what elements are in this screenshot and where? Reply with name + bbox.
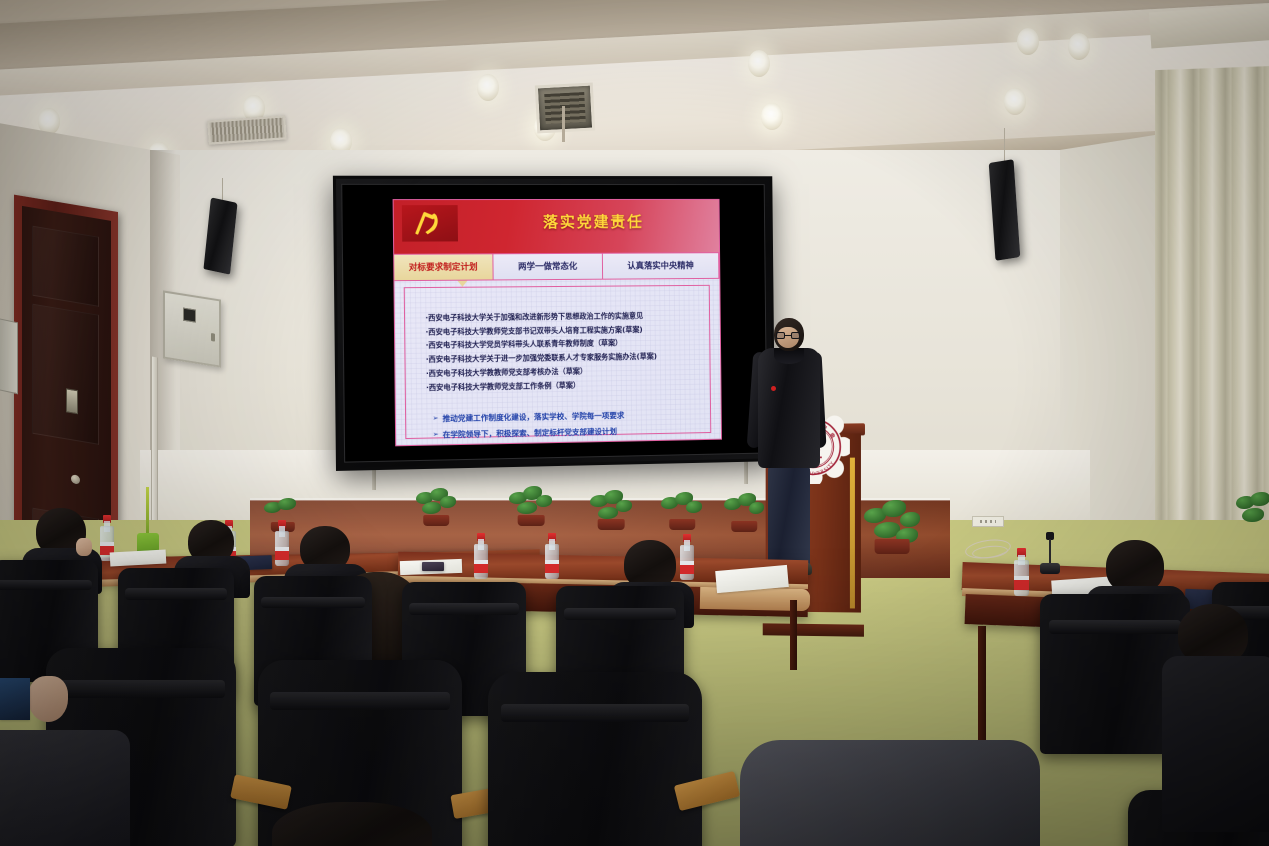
door-panel [32,304,99,445]
potted-plant [414,488,458,526]
chair-rail [564,608,677,620]
plant-leaf [440,496,456,508]
ceiling-diffuser-vent [535,83,595,134]
person-hand [28,676,68,722]
audience-chair-foreground[interactable] [488,672,702,846]
water-bottle [1014,548,1029,596]
plant-leaf [1242,508,1264,522]
chair-rail [0,580,92,591]
slide-content-body: ·西安电子科技大学关于加强和改进新形势下思想政治工作的实施意见 ·西安电子科技大… [404,285,711,439]
bottle-label [275,547,289,560]
electrical-panel-box[interactable] [163,290,221,367]
downlight [761,103,783,130]
presenter-person [752,318,826,586]
water-bottle [275,520,289,566]
arrow-bullet-icon: ➢ [433,427,439,443]
podium-base [763,623,864,636]
chair-rail [1049,620,1181,634]
bottle-body [275,531,289,566]
potted-plant [660,492,704,530]
glasses-lens-left [776,332,785,339]
plant-leaf [1250,492,1269,506]
presenter-legs [768,464,810,568]
audience-person-foreground [740,730,1040,846]
presenter-lapel-badge [771,386,776,391]
person-torso [0,730,130,846]
downlight [477,74,499,101]
wall-outlet[interactable] [972,516,1004,527]
chair-backrest [488,672,702,846]
plant-leaf [900,512,920,527]
presentation-slide: 落实党建责任 对标要求制定计划 两学一做常态化 认真落实中央精神 ·西安电子科技… [392,199,722,447]
chair-rail [261,597,365,609]
person-torso [1162,656,1269,832]
presenter-torso [758,348,820,468]
person-torso [740,740,1040,846]
plant-leaf [686,501,702,513]
plant-leaf [278,498,296,510]
slide-bullet-block: ➢ 推动党建工作制度化建设，落实学校、学院每一项要求 ➢ 在学院领导下，积极探索… [426,407,697,444]
glasses-icon [776,332,800,339]
plant-leaf [422,502,441,514]
plant-pot [598,519,625,530]
chair-rail [270,692,450,710]
plant-pot [875,539,910,554]
door-lock-plate[interactable] [66,388,78,414]
arrow-bullet-icon: ➢ [432,411,438,427]
person-hand [76,538,92,556]
slide-doc-line: ·西安电子科技大学教师党支部工作条例（草案） [426,377,697,395]
slide-tab-active[interactable]: 对标要求制定计划 [394,253,494,280]
plant-leaf [536,495,552,507]
audience-person-foreground [252,802,462,846]
bottle-label [1014,576,1029,590]
bottle-label [474,560,488,573]
chair-rail [125,588,227,600]
wall-junction-box [0,318,18,395]
chair-rail [409,603,518,615]
table-leg [790,600,797,670]
potted-plant [588,490,634,530]
projection-screen: 落实党建责任 对标要求制定计划 两学一做常态化 认真落实中央精神 ·西安电子科技… [333,176,775,471]
bottle-label [545,560,559,573]
door-knob[interactable] [71,474,80,485]
audience-person-foreground [1168,604,1269,824]
plant-leaf [598,507,618,519]
panel-lock[interactable] [211,333,215,342]
slide-tab-2[interactable]: 两学一做常态化 [493,253,603,280]
potted-plant [508,486,554,526]
phone-screen[interactable] [0,678,30,720]
plant-leaf [616,500,632,512]
plant-pot [423,515,449,526]
plant-pot [669,519,695,530]
bottle-body [474,544,488,579]
potted-plant [1236,492,1269,532]
door-panel [32,226,99,307]
projector-cable [562,106,565,142]
glasses-lens-right [791,332,800,339]
cpc-party-emblem-icon [401,205,458,242]
slide-tab-row: 对标要求制定计划 两学一做常态化 认真落实中央精神 [394,252,719,281]
plant-leaf [517,502,537,514]
person-head [272,802,432,846]
notebook-small [422,562,444,571]
bottle-body [545,544,559,579]
desk-microphone[interactable] [1040,532,1060,574]
downlight [1004,88,1026,115]
conference-room-photo: 落实党建责任 对标要求制定计划 两学一做常态化 认真落实中央精神 ·西安电子科技… [0,0,1269,846]
microphone-base [1040,563,1060,574]
podium-gold-trim-right [850,458,855,609]
slide-title-banner: 落实党建责任 [393,200,719,259]
downlight [1068,33,1090,60]
water-bottle [545,533,559,579]
potted-plant [862,500,922,554]
bottle-body [1014,560,1029,596]
downlight [1017,28,1039,55]
slide-title: 落实党建责任 [473,203,713,241]
mop-handle[interactable] [146,487,149,536]
slide-tab-3[interactable]: 认真落实中央精神 [603,252,719,279]
downlight [748,50,770,77]
plant-pot [518,515,545,526]
microphone-stem [1049,539,1051,565]
water-bottle [474,533,488,579]
chair-rail [501,704,689,722]
panel-window [183,308,196,323]
paper-sheet [110,550,167,567]
